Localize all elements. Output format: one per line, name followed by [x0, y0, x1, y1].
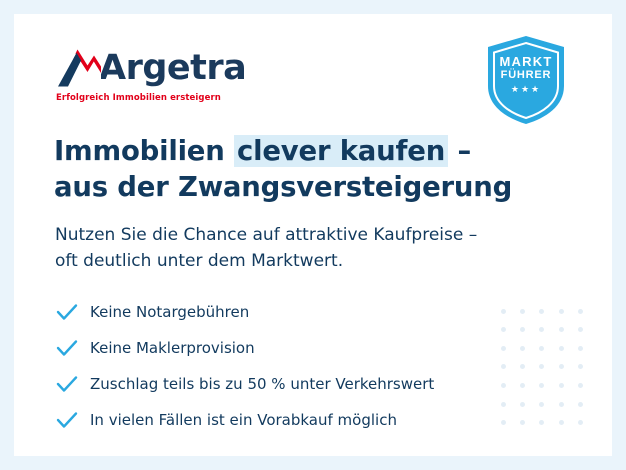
list-item: Zuschlag teils bis zu 50 % unter Verkehr… [56, 369, 536, 399]
brand-claim: Erfolgreich Immobilien ersteigern [56, 93, 246, 103]
check-icon [56, 337, 78, 359]
frame-edge-left [0, 0, 14, 470]
promo-banner: Argetra Erfolgreich Immobilien ersteiger… [0, 0, 626, 470]
check-icon [56, 409, 78, 431]
logo-row: Argetra [56, 44, 246, 88]
subheadline: Nutzen Sie die Chance auf attraktive Kau… [55, 222, 525, 275]
check-icon [56, 301, 78, 323]
frame-edge-top [0, 0, 626, 14]
headline-line1-pre: Immobilien [54, 135, 234, 167]
list-item-label: Zuschlag teils bis zu 50 % unter Verkehr… [90, 375, 434, 393]
list-item: Keine Notargebühren [56, 297, 536, 327]
subheadline-line2: oft deutlich unter dem Marktwert. [55, 248, 525, 274]
headline-line1-post: – [448, 135, 471, 167]
list-item-label: In vielen Fällen ist ein Vorabkauf mögli… [90, 411, 397, 429]
page-title: Immobilien clever kaufen – aus der Zwang… [54, 133, 514, 206]
frame-edge-right [612, 0, 626, 470]
frame-edge-bottom [0, 456, 626, 470]
brand-logo[interactable]: Argetra Erfolgreich Immobilien ersteiger… [56, 44, 246, 103]
list-item-label: Keine Notargebühren [90, 303, 249, 321]
list-item-label: Keine Maklerprovision [90, 339, 255, 357]
argetra-roof-icon [56, 46, 102, 88]
benefit-list: Keine Notargebühren Keine Maklerprovisio… [56, 297, 536, 441]
subheadline-line1: Nutzen Sie die Chance auf attraktive Kau… [55, 222, 525, 248]
headline-highlight: clever kaufen [234, 135, 448, 167]
list-item: In vielen Fällen ist ein Vorabkauf mögli… [56, 405, 536, 435]
brand-name: Argetra [99, 51, 246, 86]
headline-line2: aus der Zwangsversteigerung [54, 169, 514, 205]
check-icon [56, 373, 78, 395]
list-item: Keine Maklerprovision [56, 333, 536, 363]
market-leader-badge: MARKT FÜHRER ★★★ [484, 34, 568, 126]
